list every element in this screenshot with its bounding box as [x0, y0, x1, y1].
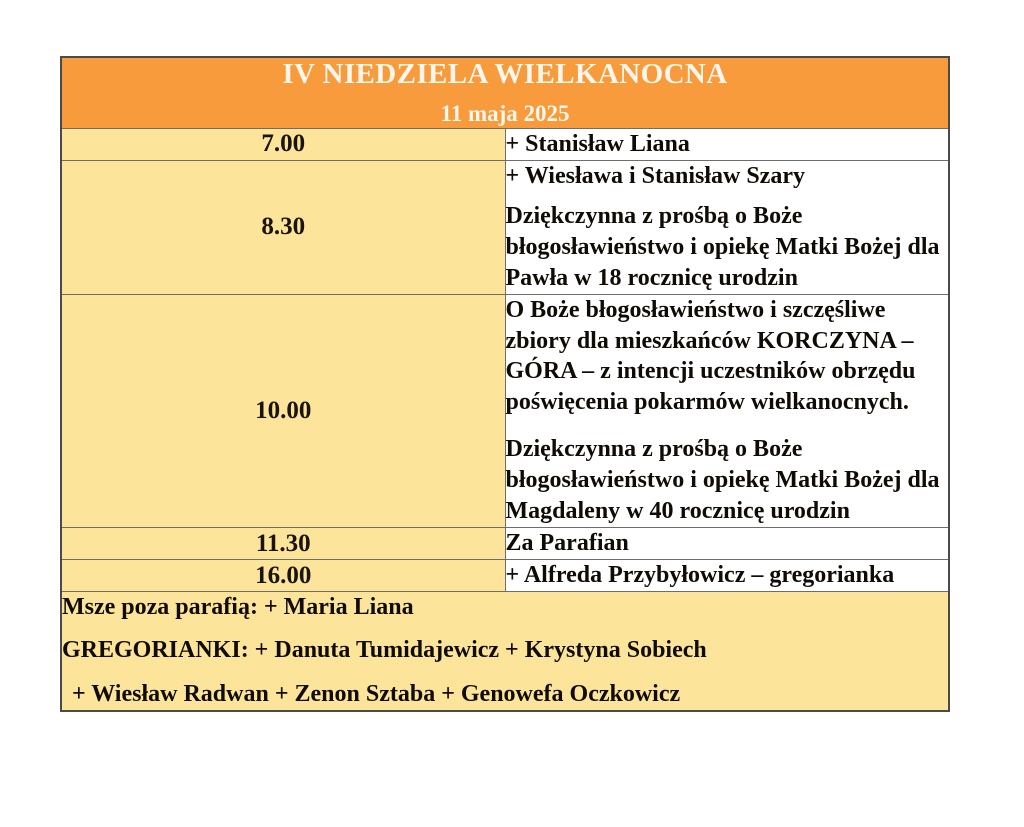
mass-schedule-table: IV NIEDZIELA WIELKANOCNA 11 maja 2025 7.…: [60, 56, 950, 712]
mass-schedule-sheet: IV NIEDZIELA WIELKANOCNA 11 maja 2025 7.…: [60, 56, 950, 712]
intention-paragraph: O Boże błogosławieństwo i szczęśliwe zbi…: [506, 295, 949, 419]
table-row: 10.00 O Boże błogosławieństwo i szczęśli…: [61, 294, 949, 528]
intention-line: + Alfreda Przybyłowicz – gregorianka: [506, 560, 949, 591]
intention-line: + Wiesława i Stanisław Szary: [506, 161, 949, 192]
table-footer-row: Msze poza parafią: + Maria Liana GREGORI…: [61, 592, 949, 711]
mass-time-16-00: 16.00: [61, 560, 505, 592]
mass-time-11-30: 11.30: [61, 528, 505, 560]
external-masses-cell: Msze poza parafią: + Maria Liana GREGORI…: [61, 592, 949, 711]
page-title: IV NIEDZIELA WIELKANOCNA: [62, 58, 948, 91]
schedule-date: 11 maja 2025: [62, 101, 948, 127]
mass-time-8-30: 8.30: [61, 160, 505, 294]
footer-line-gregorian-masses: GREGORIANKI: + Danuta Tumidajewicz + Kry…: [62, 635, 948, 666]
intention-paragraph: Dziękczynna z prośbą o Boże błogosławień…: [506, 434, 949, 527]
intention-line: Za Parafian: [506, 528, 949, 559]
mass-intentions-10-00: O Boże błogosławieństwo i szczęśliwe zbi…: [505, 294, 949, 528]
table-row: 16.00 + Alfreda Przybyłowicz – gregorian…: [61, 560, 949, 592]
table-header-row: IV NIEDZIELA WIELKANOCNA 11 maja 2025: [61, 57, 949, 128]
table-row: 11.30 Za Parafian: [61, 528, 949, 560]
mass-schedule-body: IV NIEDZIELA WIELKANOCNA 11 maja 2025 7.…: [61, 57, 949, 711]
schedule-header-cell: IV NIEDZIELA WIELKANOCNA 11 maja 2025: [61, 57, 949, 128]
intention-line: Dziękczynna z prośbą o Boże błogosławień…: [506, 201, 949, 294]
table-row: 8.30 + Wiesława i Stanisław Szary Dziękc…: [61, 160, 949, 294]
mass-intentions-8-30: + Wiesława i Stanisław Szary Dziękczynna…: [505, 160, 949, 294]
footer-line-external-masses: Msze poza parafią: + Maria Liana: [62, 592, 948, 623]
mass-time-7-00: 7.00: [61, 128, 505, 160]
mass-intentions-16-00: + Alfreda Przybyłowicz – gregorianka: [505, 560, 949, 592]
table-row: 7.00 + Stanisław Liana: [61, 128, 949, 160]
mass-intentions-11-30: Za Parafian: [505, 528, 949, 560]
mass-intentions-7-00: + Stanisław Liana: [505, 128, 949, 160]
mass-time-10-00: 10.00: [61, 294, 505, 528]
intention-line: + Stanisław Liana: [506, 129, 949, 160]
footer-line-gregorian-masses-continued: + Wiesław Radwan + Zenon Sztaba + Genowe…: [62, 679, 948, 710]
